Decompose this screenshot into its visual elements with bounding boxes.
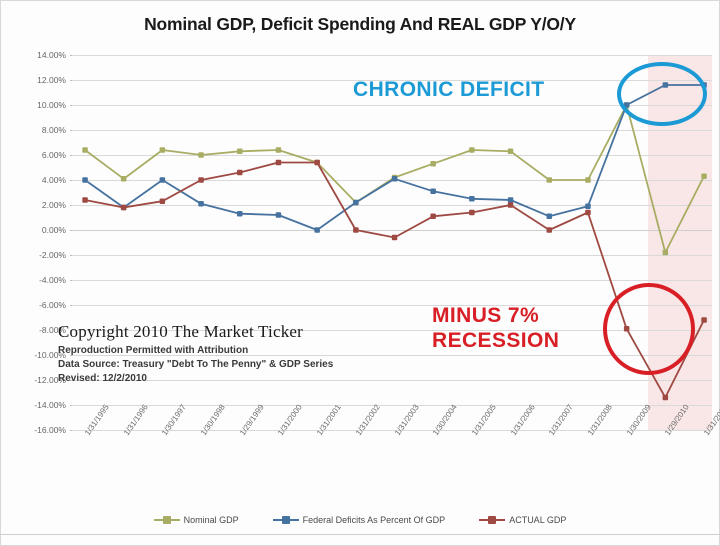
annotation-circle-recession	[603, 283, 695, 375]
copyright-line-4: Revised: 12/2/2010	[58, 373, 333, 384]
series-marker	[663, 395, 669, 401]
series-marker	[430, 161, 436, 167]
series-marker	[237, 211, 243, 217]
series-marker	[314, 160, 320, 166]
y-axis-tick-label: -14.00%	[8, 401, 66, 410]
annotation-minus-7-recession: MINUS 7% RECESSION	[432, 303, 559, 353]
series-marker	[430, 189, 436, 195]
series-marker	[508, 197, 514, 203]
series-marker	[82, 197, 88, 203]
series-line	[85, 85, 704, 230]
series-marker	[469, 210, 475, 216]
annotation-recession-line1: MINUS 7%	[432, 303, 559, 328]
chart-legend: Nominal GDPFederal Deficits As Percent O…	[0, 508, 720, 532]
y-axis-tick-label: -6.00%	[8, 301, 66, 310]
series-marker	[430, 214, 436, 220]
series-marker	[547, 227, 553, 233]
legend-swatch	[479, 519, 505, 521]
copyright-block: Copyright 2010 The Market Ticker Reprodu…	[58, 322, 333, 384]
y-axis-tick-label: 8.00%	[8, 126, 66, 135]
annotation-chronic-deficit: CHRONIC DEFICIT	[353, 78, 545, 102]
legend-label: Federal Deficits As Percent Of GDP	[303, 515, 446, 525]
bottom-divider	[0, 534, 720, 535]
legend-item: ACTUAL GDP	[479, 515, 566, 525]
y-axis-tick-label: 12.00%	[8, 76, 66, 85]
legend-label: Nominal GDP	[184, 515, 239, 525]
series-marker	[237, 149, 243, 155]
legend-item: Nominal GDP	[154, 515, 239, 525]
series-marker	[121, 205, 127, 211]
series-marker	[198, 152, 204, 158]
legend-swatch	[154, 519, 180, 521]
series-marker	[585, 204, 591, 210]
y-axis-tick-label: 10.00%	[8, 101, 66, 110]
legend-marker	[282, 516, 290, 524]
chart-title: Nominal GDP, Deficit Spending And REAL G…	[0, 14, 720, 35]
series-marker	[663, 250, 669, 256]
series-marker	[237, 170, 243, 176]
copyright-line-2: Reproduction Permitted with Attribution	[58, 345, 333, 356]
y-axis-tick-label: 0.00%	[8, 226, 66, 235]
x-axis-labels: 1/31/19951/31/19961/30/19971/30/19981/29…	[72, 432, 712, 512]
y-axis-tick-label: -2.00%	[8, 251, 66, 260]
annotation-ellipse-chronic-deficit	[617, 62, 707, 126]
y-axis-tick-label: 6.00%	[8, 151, 66, 160]
series-marker	[198, 177, 204, 183]
legend-label: ACTUAL GDP	[509, 515, 566, 525]
chart-page: Nominal GDP, Deficit Spending And REAL G…	[0, 0, 720, 546]
y-axis-tick-label: 4.00%	[8, 176, 66, 185]
legend-swatch	[273, 519, 299, 521]
series-marker	[392, 235, 398, 241]
series-marker	[392, 176, 398, 182]
series-marker	[160, 199, 166, 205]
series-marker	[121, 176, 127, 182]
series-marker	[547, 177, 553, 183]
y-axis-labels: 14.00%12.00%10.00%8.00%6.00%4.00%2.00%0.…	[4, 55, 66, 430]
series-marker	[508, 149, 514, 155]
y-axis-tick-label: 14.00%	[8, 51, 66, 60]
copyright-line-1: Copyright 2010 The Market Ticker	[58, 322, 333, 342]
series-marker	[508, 202, 514, 208]
series-marker	[276, 147, 282, 153]
annotation-recession-line2: RECESSION	[432, 328, 559, 353]
series-marker	[585, 210, 591, 216]
series-marker	[276, 160, 282, 166]
series-marker	[353, 227, 359, 233]
series-marker	[160, 147, 166, 153]
series-marker	[82, 177, 88, 183]
y-axis-tick-label: -4.00%	[8, 276, 66, 285]
series-marker	[701, 174, 707, 180]
y-axis-tick-label: 2.00%	[8, 201, 66, 210]
legend-marker	[488, 516, 496, 524]
series-marker	[160, 177, 166, 183]
legend-marker	[163, 516, 171, 524]
series-marker	[198, 201, 204, 207]
series-marker	[469, 147, 475, 153]
series-marker	[82, 147, 88, 153]
series-marker	[276, 212, 282, 218]
series-marker	[547, 214, 553, 220]
legend-item: Federal Deficits As Percent Of GDP	[273, 515, 446, 525]
series-marker	[353, 200, 359, 206]
series-marker	[701, 317, 707, 323]
y-axis-tick-label: -16.00%	[8, 426, 66, 435]
copyright-line-3: Data Source: Treasury "Debt To The Penny…	[58, 359, 333, 370]
series-marker	[469, 196, 475, 202]
series-marker	[585, 177, 591, 183]
series-marker	[314, 227, 320, 233]
